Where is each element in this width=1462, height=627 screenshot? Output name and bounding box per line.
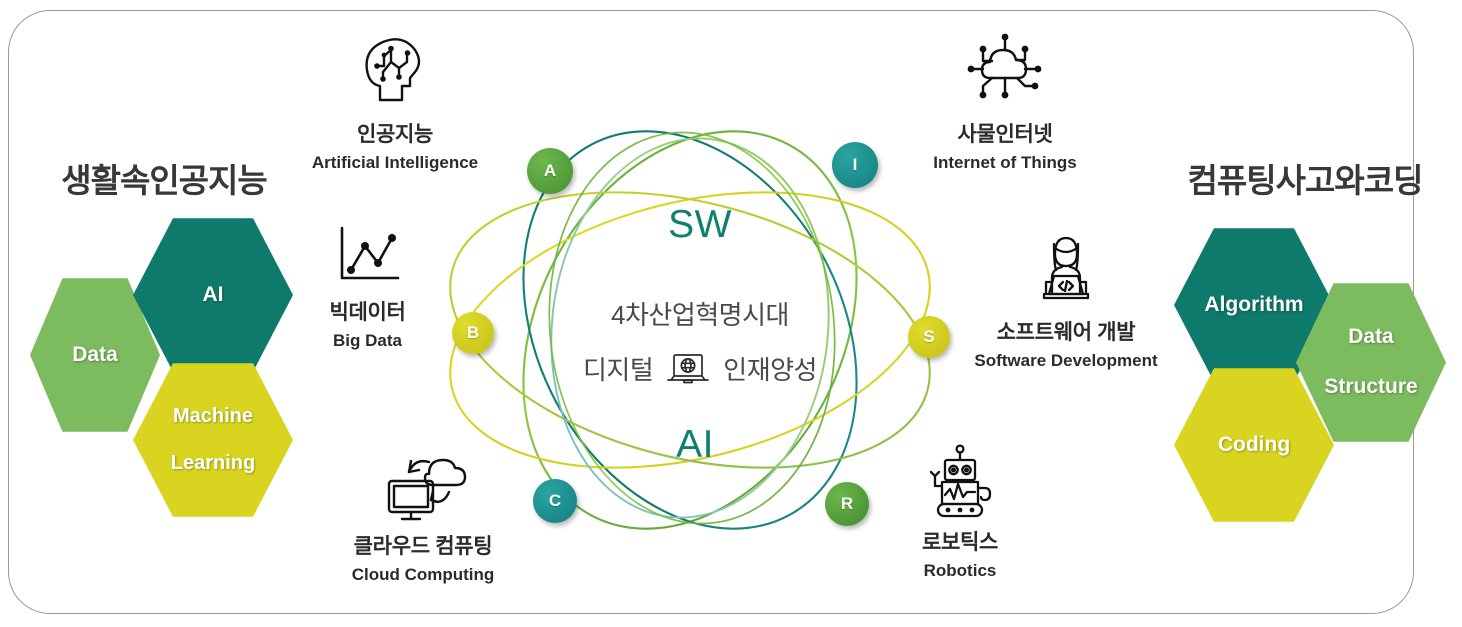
center-word-sw: SW bbox=[590, 203, 810, 247]
hexagon-ai-label: AI bbox=[197, 283, 230, 308]
orbit-badge-a-letter: A bbox=[544, 161, 556, 181]
hexagon-data-structure-label: Data Structure bbox=[1312, 325, 1429, 399]
center-word-ai: AI bbox=[585, 423, 805, 467]
center-message-line2: 디지털 인재양성 bbox=[520, 350, 880, 387]
keyword-big-data-en: Big Data bbox=[295, 331, 440, 351]
orbit-badge-i[interactable]: I bbox=[832, 142, 878, 188]
keyword-robotics-en: Robotics bbox=[880, 561, 1040, 581]
cloud-network-nodes-icon bbox=[905, 28, 1105, 112]
keyword-software-development-ko: 소프트웨어 개발 bbox=[950, 316, 1182, 346]
keyword-cloud-computing-en: Cloud Computing bbox=[318, 565, 528, 585]
orbit-badge-c-letter: C bbox=[549, 491, 561, 511]
center-message-line1: 4차산업혁명시대 bbox=[520, 295, 880, 332]
orbit-badge-r[interactable]: R bbox=[825, 482, 869, 526]
keyword-software-development-en: Software Development bbox=[950, 351, 1182, 371]
keyword-software-development: 소프트웨어 개발 Software Development bbox=[950, 230, 1182, 371]
orbit-badge-b-letter: B bbox=[467, 323, 479, 343]
laptop-globe-icon bbox=[665, 352, 711, 386]
orbit-badge-s-letter: S bbox=[923, 327, 934, 347]
developer-laptop-code-icon bbox=[950, 230, 1182, 310]
hexagon-machine-learning-label: Machine Learning bbox=[159, 405, 267, 476]
hexagon-coding-label: Coding bbox=[1212, 433, 1296, 458]
orbit-badge-s[interactable]: S bbox=[908, 316, 950, 358]
orbit-badge-c[interactable]: C bbox=[533, 479, 577, 523]
hexagon-algorithm-label: Algorithm bbox=[1198, 293, 1309, 318]
page-title-left: 생활속인공지능 bbox=[22, 154, 306, 202]
keyword-big-data: 빅데이터 Big Data bbox=[295, 222, 440, 351]
orbit-badge-r-letter: R bbox=[841, 494, 853, 514]
hexagon-data-label: Data bbox=[66, 343, 124, 368]
orbit-badge-i-letter: I bbox=[853, 155, 858, 175]
infographic-canvas: 생활속인공지능 Data AI Machine Learning 컴퓨팅사고와코… bbox=[0, 0, 1462, 627]
hexagon-ds-line2: Structure bbox=[1318, 375, 1423, 400]
keyword-big-data-ko: 빅데이터 bbox=[295, 296, 440, 326]
orbit-badge-a[interactable]: A bbox=[527, 148, 573, 194]
hexagon-ml-line1: Machine bbox=[165, 405, 261, 429]
center-message-line2-after: 인재양성 bbox=[723, 350, 817, 387]
orbit-badge-b[interactable]: B bbox=[452, 312, 494, 354]
center-message-line2-before: 디지털 bbox=[583, 350, 653, 387]
hexagon-ml-line2: Learning bbox=[165, 452, 261, 476]
line-chart-icon bbox=[295, 222, 440, 290]
page-title-right: 컴퓨팅사고와코딩 bbox=[1156, 154, 1454, 202]
ai-head-circuit-icon bbox=[280, 28, 510, 112]
hexagon-ds-line1: Data bbox=[1318, 325, 1423, 350]
center-message: 4차산업혁명시대 디지털 bbox=[520, 295, 880, 387]
